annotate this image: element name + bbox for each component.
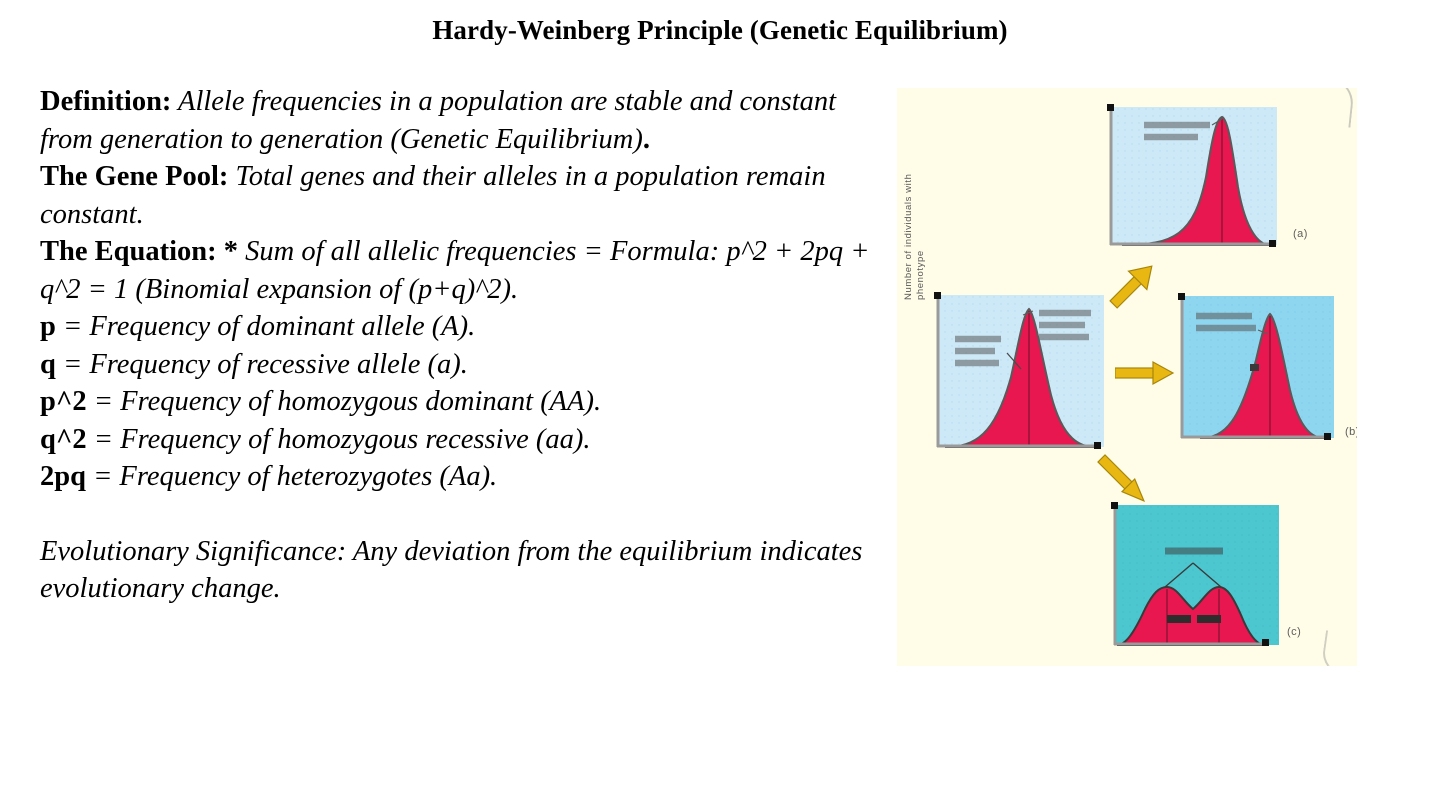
evolutionary-significance-text: Evolutionary Significance: Any deviation… [40,533,885,608]
panel-letter-b: (b) [1345,426,1357,438]
corner-marker [1178,293,1185,300]
definition-label: Definition: [40,86,171,117]
p2-definition-text: = Frequency of homozygous dominant (AA). [87,386,601,417]
arrow-up-right-icon [1102,255,1162,322]
q-definition-line: q = Frequency of recessive allele (a). [40,346,885,384]
q2-definition-text: = Frequency of homozygous recessive (aa)… [87,424,591,455]
p2-symbol: p^2 [40,386,87,417]
arrow-right-icon [1115,360,1175,391]
chart-peak-shifts [1174,296,1334,448]
chart-peak-narrows [1102,107,1277,252]
p2-definition-line: p^2 = Frequency of homozygous dominant (… [40,383,885,421]
panel-letter-c: (c) [1287,626,1301,638]
equation-label: The Equation: * [40,236,238,267]
definition-period: . [643,124,650,155]
corner-marker [1262,639,1269,646]
gene-pool-label: The Gene Pool: [40,161,228,192]
2pq-definition-text: = Frequency of heterozygotes (Aa). [86,461,497,492]
corner-marker [934,292,941,299]
corner-marker [1107,104,1114,111]
equation-line: The Equation: * Sum of all allelic frequ… [40,233,885,308]
chart-phenotype-distribution-svg [929,295,1104,455]
chart-peak-narrows-svg [1102,107,1277,252]
2pq-symbol: 2pq [40,461,86,492]
q2-symbol: q^2 [40,424,87,455]
chart-two-peaks [1107,505,1279,653]
chart-peak-shifts-svg [1174,296,1334,448]
page-title: Hardy-Weinberg Principle (Genetic Equili… [0,14,1440,46]
corner-marker [1269,240,1276,247]
q2-definition-line: q^2 = Frequency of homozygous recessive … [40,421,885,459]
q-symbol: q [40,349,56,380]
page-curl-artifact-top [1315,88,1356,128]
gene-pool-line: The Gene Pool: Total genes and their all… [40,158,885,233]
p-definition-line: p = Frequency of dominant allele (A). [40,308,885,346]
p-symbol: p [40,311,56,342]
chart-phenotype-distribution [929,295,1104,455]
natural-selection-figure: Number of individuals with phenotype (a) [897,88,1357,666]
definition-line: Definition: Allele frequencies in a popu… [40,83,885,158]
page-curl-artifact-bottom [1320,630,1354,666]
slide-body-text: Definition: Allele frequencies in a popu… [40,83,885,608]
p-definition-text: = Frequency of dominant allele (A). [56,311,475,342]
chart-two-peaks-svg [1107,505,1279,653]
2pq-definition-line: 2pq = Frequency of heterozygotes (Aa). [40,458,885,496]
panel-letter-a: (a) [1293,228,1308,240]
paragraph-spacer [40,496,885,533]
y-axis-label: Number of individuals with phenotype [903,150,927,300]
arrow-down-right-icon [1087,444,1157,519]
corner-marker [1324,433,1331,440]
q-definition-text: = Frequency of recessive allele (a). [56,349,468,380]
